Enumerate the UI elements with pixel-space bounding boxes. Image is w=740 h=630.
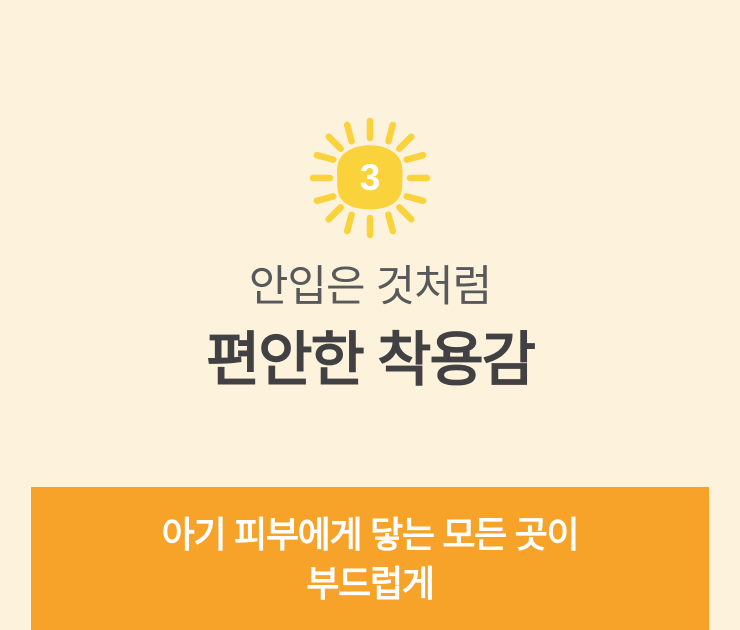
promo-card: 3 안입은 것처럼 편안한 착용감 아기 피부에게 닿는 모든 곳이 부드럽게 <box>0 0 740 630</box>
callout-line-2: 부드럽게 <box>31 559 709 608</box>
headline-block: 안입은 것처럼 편안한 착용감 <box>0 262 740 395</box>
callout-line-1: 아기 피부에게 닿는 모든 곳이 <box>31 510 709 559</box>
callout-banner: 아기 피부에게 닿는 모든 곳이 부드럽게 <box>31 487 709 630</box>
step-number: 3 <box>338 146 402 210</box>
subheadline: 안입은 것처럼 <box>0 262 740 313</box>
headline: 편안한 착용감 <box>0 326 740 396</box>
